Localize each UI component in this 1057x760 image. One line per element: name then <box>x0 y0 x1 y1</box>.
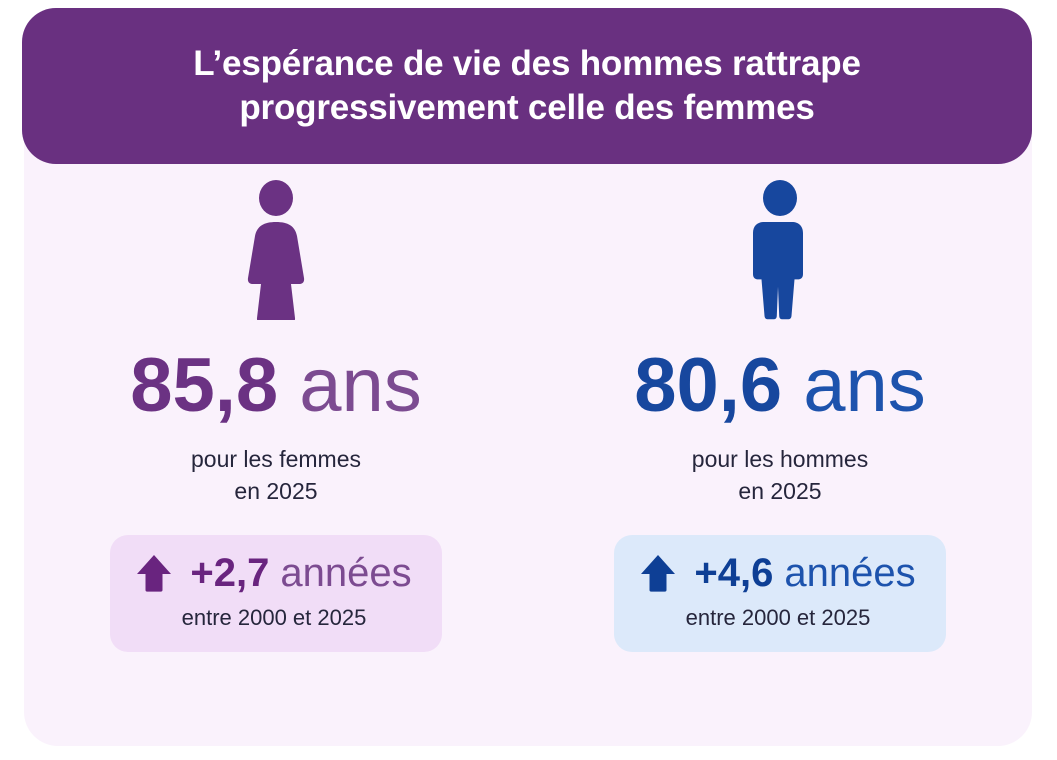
stat-column-women: 85,8 ans pour les femmes en 2025 +2,7 an… <box>24 180 528 652</box>
evolution-period-women: entre 2000 et 2025 <box>182 605 367 631</box>
male-pictogram-icon <box>742 180 818 320</box>
evolution-unit-men: années <box>784 553 915 593</box>
evolution-badge-men-main: +4,6 années <box>640 553 915 593</box>
evolution-period-men: entre 2000 et 2025 <box>686 605 871 631</box>
life-expectancy-women-unit: ans <box>299 343 422 428</box>
evolution-badge-women-main: +2,7 années <box>136 553 411 593</box>
caption-men: pour les hommes en 2025 <box>692 444 868 507</box>
page-title: L’espérance de vie des hommes rattrape p… <box>68 42 986 130</box>
stat-column-men: 80,6 ans pour les hommes en 2025 +4,6 an… <box>528 180 1032 652</box>
caption-women-line1: pour les femmes <box>191 444 361 476</box>
infographic-root: L’espérance de vie des hommes rattrape p… <box>0 0 1057 760</box>
life-expectancy-men: 80,6 ans <box>634 348 926 424</box>
evolution-delta-men: +4,6 <box>694 553 773 593</box>
life-expectancy-women-value: 85,8 <box>130 343 278 428</box>
stats-columns: 85,8 ans pour les femmes en 2025 +2,7 an… <box>24 180 1032 652</box>
arrow-up-icon <box>640 553 676 593</box>
caption-women-line2: en 2025 <box>191 476 361 508</box>
evolution-delta-women: +2,7 <box>190 553 269 593</box>
title-banner: L’espérance de vie des hommes rattrape p… <box>22 8 1032 164</box>
caption-men-line1: pour les hommes <box>692 444 868 476</box>
caption-women: pour les femmes en 2025 <box>191 444 361 507</box>
life-expectancy-men-unit: ans <box>803 343 926 428</box>
life-expectancy-women: 85,8 ans <box>130 348 422 424</box>
evolution-unit-women: années <box>280 553 411 593</box>
evolution-badge-women: +2,7 années entre 2000 et 2025 <box>110 535 441 651</box>
caption-men-line2: en 2025 <box>692 476 868 508</box>
arrow-up-icon <box>136 553 172 593</box>
evolution-badge-men: +4,6 années entre 2000 et 2025 <box>614 535 945 651</box>
life-expectancy-men-value: 80,6 <box>634 343 782 428</box>
female-pictogram-icon <box>238 180 314 320</box>
